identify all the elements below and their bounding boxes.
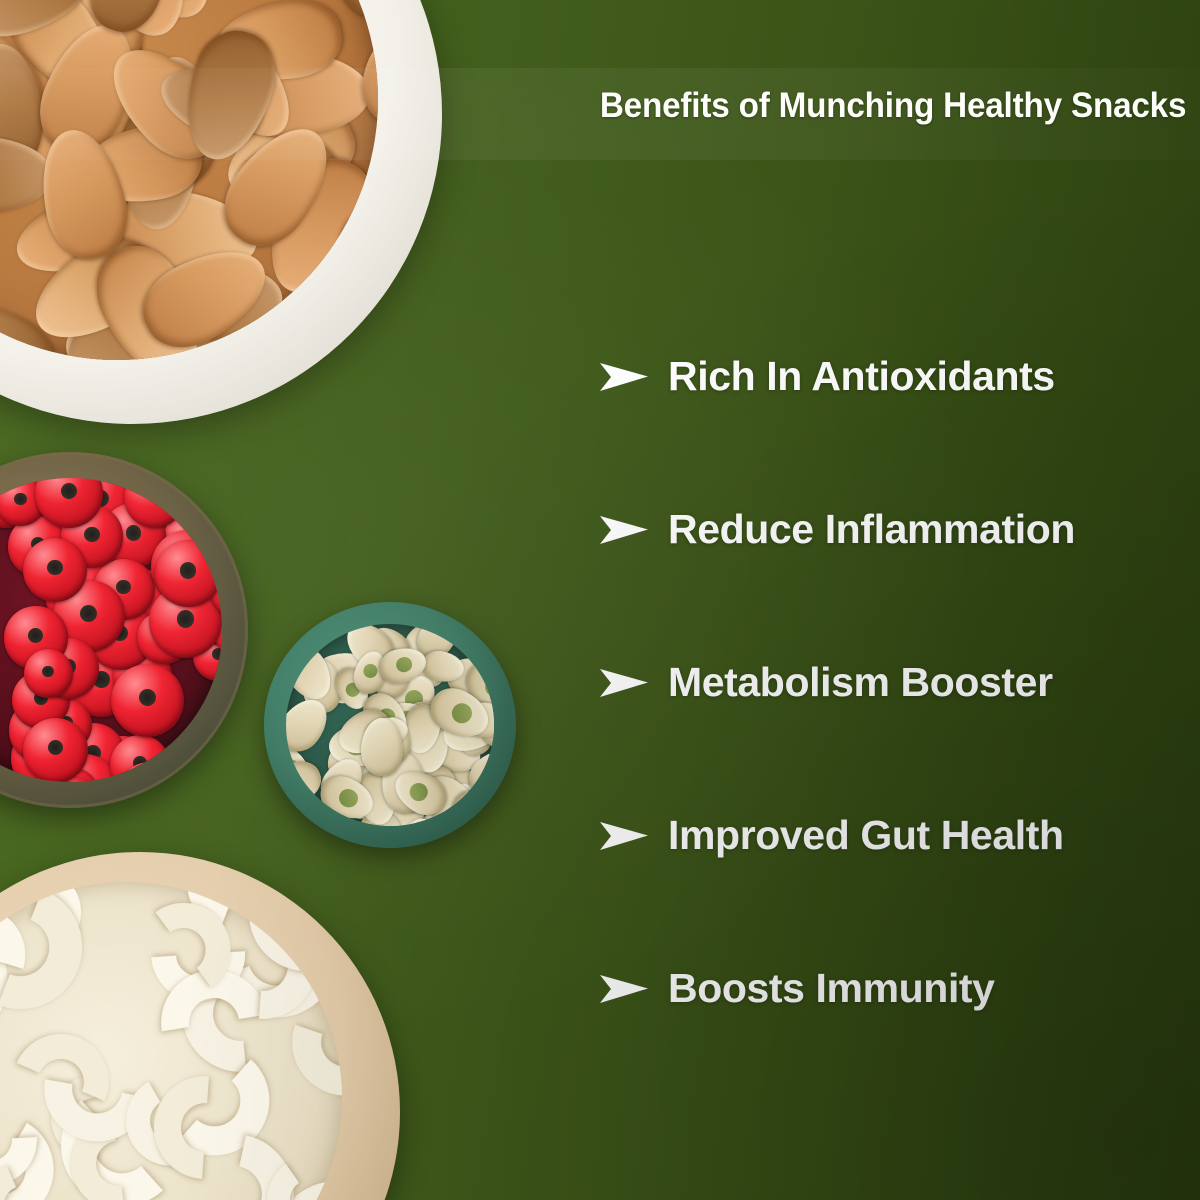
berries-bowl-photo xyxy=(0,452,248,808)
arrow-right-icon xyxy=(598,819,650,853)
arrow-right-icon xyxy=(598,972,650,1006)
arrow-right-icon xyxy=(598,666,650,700)
berry xyxy=(24,649,73,698)
infographic-poster: Benefits of Munching Healthy Snacks Rich… xyxy=(0,0,1200,1200)
benefit-label: Improved Gut Health xyxy=(668,812,1064,859)
berry xyxy=(23,538,87,602)
arrow-right-icon xyxy=(598,513,650,547)
berry xyxy=(23,718,87,782)
benefit-label: Reduce Inflammation xyxy=(668,506,1075,553)
page-title: Benefits of Munching Healthy Snacks xyxy=(600,86,1186,126)
almonds-bowl-photo xyxy=(0,0,442,424)
benefit-item: Boosts Immunity xyxy=(598,912,1198,1065)
benefit-item: Improved Gut Health xyxy=(598,759,1198,912)
benefit-item: Reduce Inflammation xyxy=(598,453,1198,606)
benefit-item: Metabolism Booster xyxy=(598,606,1198,759)
berry xyxy=(111,664,184,737)
berry xyxy=(155,540,222,607)
benefits-list: Rich In AntioxidantsReduce InflammationM… xyxy=(598,300,1198,1065)
benefit-item: Rich In Antioxidants xyxy=(598,300,1198,453)
benefit-label: Rich In Antioxidants xyxy=(668,353,1055,400)
cashews-bowl-photo xyxy=(0,852,400,1200)
arrow-right-icon xyxy=(598,360,650,394)
benefit-label: Boosts Immunity xyxy=(668,965,995,1012)
pistachios-bowl-photo xyxy=(264,602,516,848)
benefit-label: Metabolism Booster xyxy=(668,659,1053,706)
